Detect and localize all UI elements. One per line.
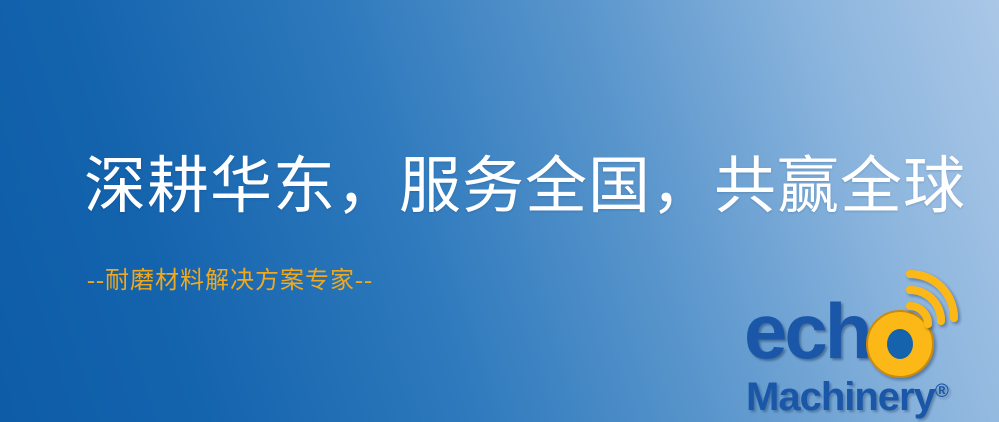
logo-wordmark-machinery: Machinery® [746,370,949,419]
logo-text-machinery: Machinery [746,375,935,419]
letter-o-gold [867,311,933,377]
hero-banner: 深耕华东，服务全国，共赢全球 --耐磨材料解决方案专家-- ech [0,0,999,422]
banner-subtitle: --耐磨材料解决方案专家-- [87,266,373,296]
page-title: 深耕华东，服务全国，共赢全球 [84,152,966,222]
registered-trademark-icon: ® [935,381,949,402]
company-logo[interactable]: ech Machinery® [742,296,994,418]
logo-mark: ech Machinery® [742,296,994,418]
